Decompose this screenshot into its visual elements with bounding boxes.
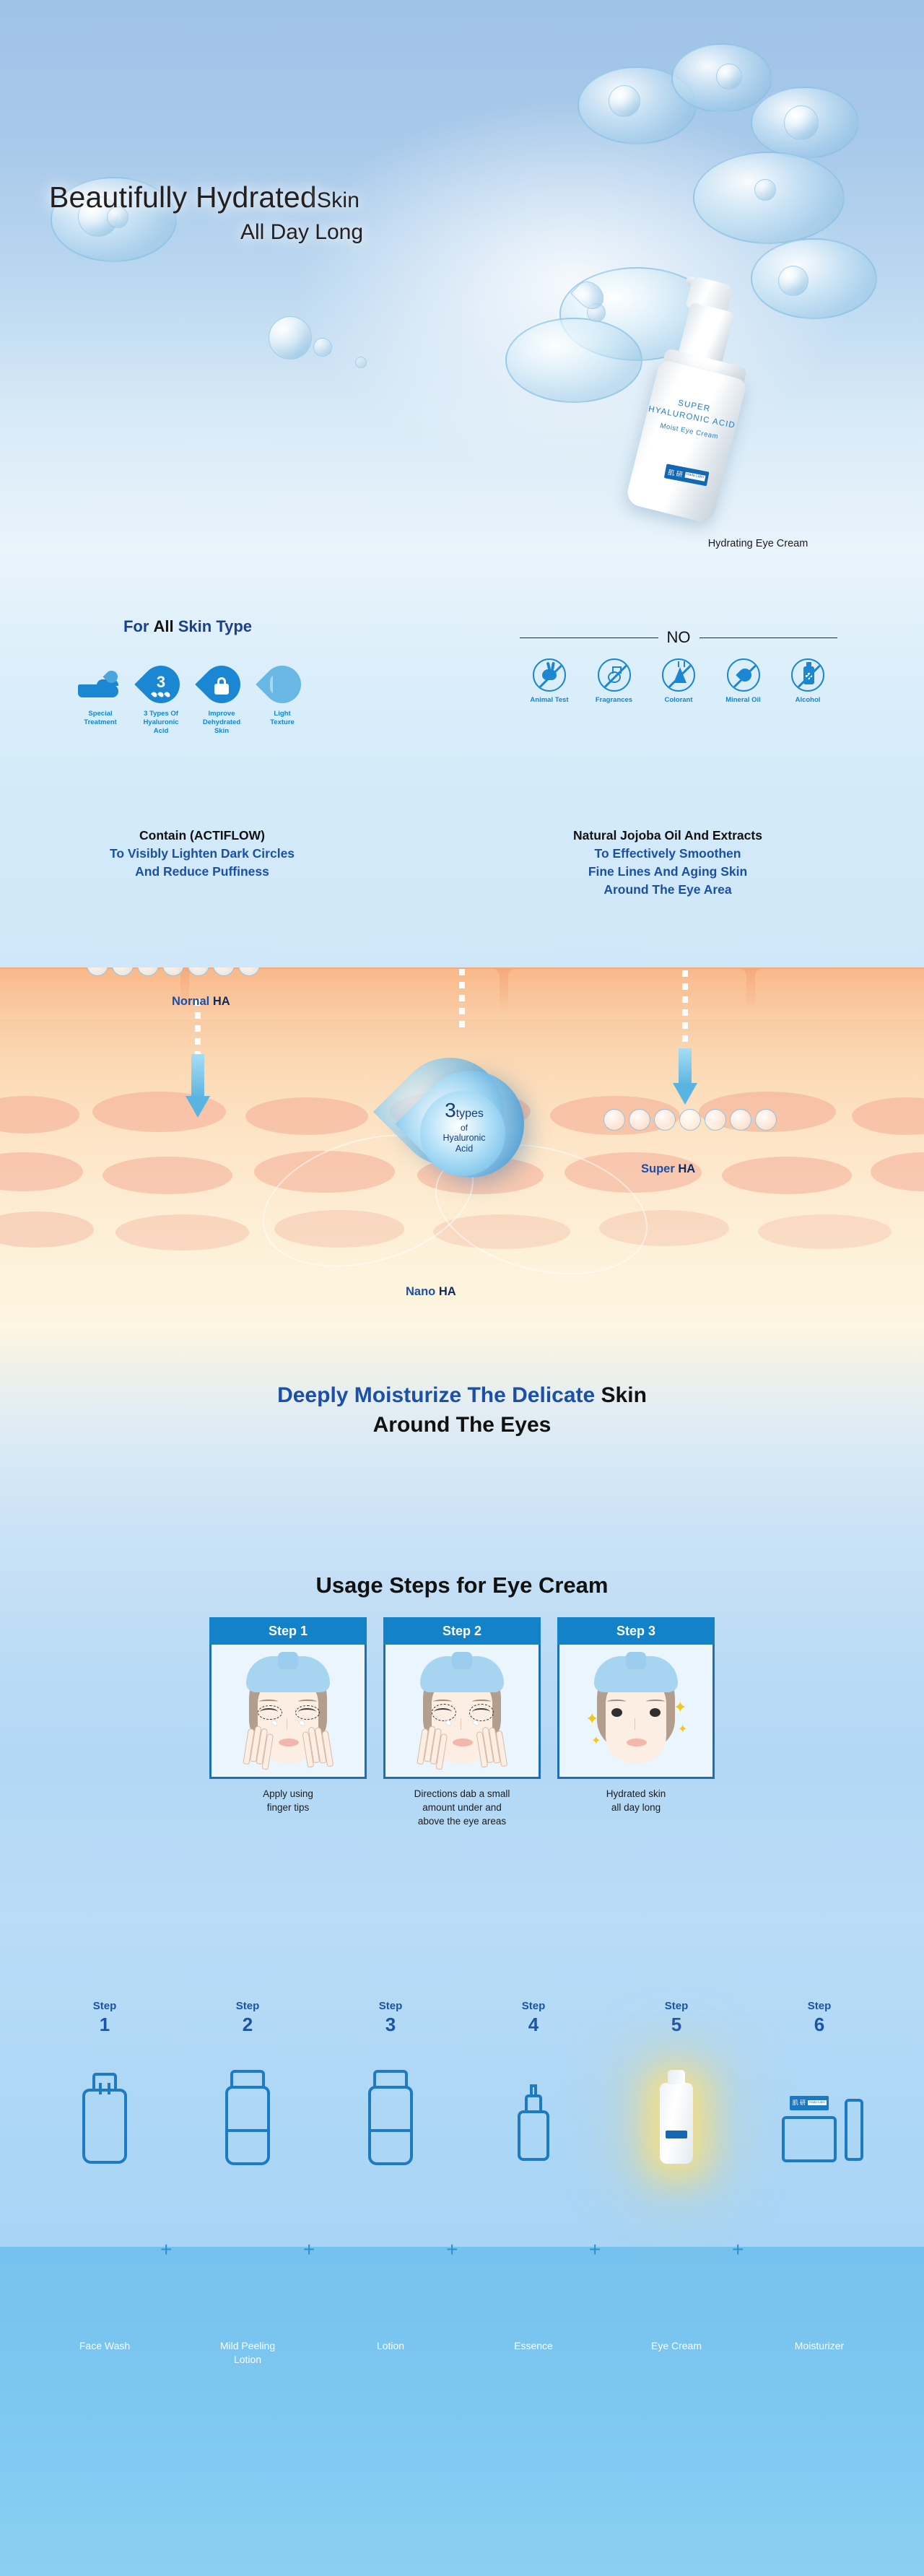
super-ha-label-b: HA bbox=[675, 1162, 695, 1175]
usage-step-card: Step 3 ✦ ✦ ✦ ✦ Hydrated sk bbox=[557, 1617, 715, 1829]
super-ha-arrow-head bbox=[673, 1083, 697, 1105]
claim-right-line3: Around The Eye Area bbox=[498, 881, 837, 899]
free-from-heading-text: NO bbox=[667, 628, 691, 647]
drop-acid-line1: Hyaluronic bbox=[410, 1133, 518, 1144]
routine-item-mild-peeling-lotion: Step 2 Mild PeelingLotion + bbox=[186, 2000, 309, 2170]
feature-item-light-texture: LightTexture bbox=[254, 657, 310, 736]
hero-title-bold: Beautifully Hydrated bbox=[49, 180, 317, 214]
free-from-item-mineral-oil: Mineral Oil bbox=[714, 658, 773, 704]
water-surface bbox=[0, 2247, 924, 2576]
feature-label: 3 Types OfHyaluronicAcid bbox=[133, 710, 189, 736]
routine-step-word: Step bbox=[615, 2000, 738, 2014]
free-from-label: Animal Test bbox=[520, 696, 579, 704]
super-ha-label: Super HA bbox=[641, 1162, 695, 1176]
essence-bottle-icon bbox=[472, 2054, 595, 2170]
feature-label: ImproveDehydratedSkin bbox=[193, 710, 250, 736]
free-from-label: Mineral Oil bbox=[714, 696, 773, 704]
feature-item-three-types: 3 3 Types OfHyaluronicAcid bbox=[133, 657, 189, 736]
epidermis-segment bbox=[189, 969, 500, 1018]
routine-item-face-wash: Step 1 Face Wash + bbox=[43, 2000, 166, 2170]
bubble bbox=[784, 105, 819, 140]
bubble bbox=[355, 357, 367, 368]
brand-logo-cn: 肌 研 bbox=[667, 467, 684, 479]
moisturize-heading-line2: Around The Eyes bbox=[373, 1413, 552, 1437]
usage-step-cards: Step 1 Ap bbox=[209, 1617, 715, 1829]
eye-cream-bottle-icon bbox=[615, 2054, 738, 2170]
epidermis-segment bbox=[0, 969, 180, 1018]
routine-step-word: Step bbox=[186, 2000, 309, 2014]
feature-item-special-treatment: SpecialTreatment bbox=[72, 657, 128, 736]
no-colorant-icon bbox=[662, 658, 695, 692]
usage-step-caption: Directions dab a smallamount under andab… bbox=[383, 1788, 541, 1829]
dermis-cell bbox=[103, 1157, 232, 1194]
free-from-label: Colorant bbox=[649, 696, 708, 704]
plus-separator: + bbox=[732, 2238, 744, 2261]
claim-right: Natural Jojoba Oil And Extracts To Effec… bbox=[498, 827, 837, 898]
drop-acid-line2: Acid bbox=[410, 1144, 518, 1154]
epidermis-segment bbox=[755, 969, 924, 1018]
free-from-label: Fragrances bbox=[585, 696, 644, 704]
routine-section: Step 1 Face Wash + Step 2 Mild Peel bbox=[0, 1920, 924, 2576]
drop-of: of bbox=[410, 1123, 518, 1133]
hand-drop-icon bbox=[78, 657, 123, 705]
lock-drop-icon bbox=[203, 657, 240, 705]
usage-heading: Usage Steps for Eye Cream bbox=[0, 1572, 924, 1598]
routine-product-name: Moisturizer bbox=[758, 2339, 881, 2353]
bubble bbox=[269, 316, 312, 360]
usage-step-illustration: ✦ ✦ ✦ ✦ bbox=[557, 1645, 715, 1779]
nano-ha-dash-line bbox=[459, 967, 465, 1034]
claim-right-line1: To Effectively Smoothen bbox=[498, 845, 837, 863]
divider-line-left bbox=[520, 638, 658, 638]
routine-item-moisturizer: Step 6 肌 研 Hada Labo Moisturizer bbox=[758, 2000, 881, 2170]
plus-separator: + bbox=[160, 2238, 172, 2261]
face-wash-bottle-icon bbox=[43, 2054, 166, 2170]
claim-left: Contain (ACTIFLOW) To Visibly Lighten Da… bbox=[51, 827, 354, 881]
usage-step-card: Step 2 bbox=[383, 1617, 541, 1829]
nano-ha-label: Nano HA bbox=[406, 1285, 456, 1299]
free-from-heading: NO bbox=[520, 628, 837, 647]
normal-ha-arrow-head bbox=[186, 1096, 210, 1118]
plus-separator: + bbox=[589, 2238, 601, 2261]
routine-step-number: 4 bbox=[472, 2015, 595, 2034]
free-from-panel: NO Animal Test Fragrances Colorant bbox=[520, 628, 837, 704]
feature-label: LightTexture bbox=[254, 710, 310, 727]
routine-product-name: Mild PeelingLotion bbox=[186, 2339, 309, 2367]
drop-headline: 3types bbox=[410, 1098, 518, 1123]
feature-icon-row: SpecialTreatment 3 3 Types OfHyaluronicA… bbox=[72, 657, 310, 736]
super-ha-molecule-row bbox=[603, 1109, 777, 1131]
usage-step-title: Step 1 bbox=[209, 1617, 367, 1645]
bubble bbox=[609, 85, 640, 117]
moisturize-section: Deeply Moisturize The Delicate Skin Arou… bbox=[0, 1328, 924, 1516]
sparkle-icon: ✦ bbox=[585, 1711, 598, 1727]
skin-type-heading-post: Skin Type bbox=[174, 617, 252, 635]
no-alcohol-icon bbox=[791, 658, 824, 692]
free-from-label: Alcohol bbox=[778, 696, 837, 704]
routine-product-name: Lotion bbox=[329, 2339, 452, 2353]
free-from-item-colorant: Colorant bbox=[649, 658, 708, 704]
drop-number: 3 bbox=[445, 1099, 456, 1121]
normal-ha-label: Nornal HA bbox=[172, 995, 230, 1009]
dermis-cell bbox=[722, 1157, 852, 1194]
usage-step-title: Step 2 bbox=[383, 1617, 541, 1645]
features-section: For All Skin Type SpecialTreatment 3 3 T… bbox=[0, 549, 924, 967]
bubble bbox=[754, 179, 776, 201]
normal-ha-arrow-shaft bbox=[191, 1054, 204, 1099]
product-caption: Hydrating Eye Cream bbox=[671, 538, 845, 549]
free-from-item-fragrances: Fragrances bbox=[585, 658, 644, 704]
moisturize-heading: Deeply Moisturize The Delicate Skin Arou… bbox=[0, 1380, 924, 1440]
claim-left-line1: To Visibly Lighten Dark Circles bbox=[51, 845, 354, 863]
usage-steps-section: Usage Steps for Eye Cream Step 1 bbox=[0, 1516, 924, 1920]
face-illustration bbox=[240, 1655, 336, 1779]
drop-text: 3types of Hyaluronic Acid bbox=[410, 1098, 518, 1154]
face-illustration: ✦ ✦ ✦ ✦ bbox=[588, 1655, 684, 1779]
light-drop-icon bbox=[263, 657, 301, 705]
routine-step-number: 3 bbox=[329, 2015, 452, 2034]
skin-type-heading-pre: For bbox=[123, 617, 154, 635]
divider-line-right bbox=[699, 638, 838, 638]
nano-ha-label-a: Nano bbox=[406, 1285, 435, 1298]
super-ha-arrow-shaft bbox=[679, 1048, 692, 1086]
feature-label: SpecialTreatment bbox=[72, 710, 128, 727]
bubble bbox=[716, 64, 742, 90]
normal-ha-label-b: HA bbox=[209, 995, 230, 1008]
dermis-cell bbox=[0, 1152, 83, 1191]
usage-step-illustration bbox=[383, 1645, 541, 1779]
routine-product-name: Eye Cream bbox=[615, 2339, 738, 2353]
claim-right-line2: Fine Lines And Aging Skin bbox=[498, 863, 837, 881]
drop-types: types bbox=[456, 1108, 484, 1120]
routine-row: Step 1 Face Wash + Step 2 Mild Peel bbox=[43, 2000, 881, 2170]
dermis-cell bbox=[245, 1097, 368, 1135]
mild-peeling-lotion-bottle-icon bbox=[186, 2054, 309, 2170]
nano-ha-label-b: HA bbox=[435, 1285, 456, 1298]
usage-step-caption: Apply usingfinger tips bbox=[209, 1788, 367, 1815]
feature-item-improve-dehydrated: ImproveDehydratedSkin bbox=[193, 657, 250, 736]
routine-product-name: Essence bbox=[472, 2339, 595, 2353]
three-types-hyaluronic-drop: 3types of Hyaluronic Acid bbox=[383, 1029, 541, 1224]
routine-brand-cn: 肌 研 bbox=[793, 2099, 806, 2107]
usage-step-card: Step 1 Ap bbox=[209, 1617, 367, 1829]
claim-right-highlight: Natural Jojoba Oil And Extracts bbox=[498, 827, 837, 845]
dermis-cell bbox=[0, 1096, 79, 1133]
skin-type-heading-bold: All bbox=[154, 617, 174, 635]
no-animal-test-icon bbox=[533, 658, 566, 692]
plus-separator: + bbox=[446, 2238, 458, 2261]
three-types-drop-icon: 3 bbox=[142, 657, 180, 705]
hero-title-light: Skin bbox=[317, 188, 359, 212]
bubble bbox=[313, 338, 332, 357]
super-ha-label-a: Super bbox=[641, 1162, 675, 1175]
usage-step-title: Step 3 bbox=[557, 1617, 715, 1645]
routine-step-number: 2 bbox=[186, 2015, 309, 2034]
dermis-cell bbox=[115, 1214, 249, 1250]
routine-brand-en: Hada Labo bbox=[808, 2100, 827, 2105]
epidermis-segment bbox=[508, 969, 746, 1018]
brand-logo-en: Hada Labo bbox=[684, 472, 705, 482]
lotion-bottle-icon bbox=[329, 2054, 452, 2170]
dermis-cell bbox=[758, 1214, 892, 1249]
no-fragrances-icon bbox=[598, 658, 631, 692]
sparkle-icon: ✦ bbox=[678, 1724, 687, 1736]
sparkle-icon: ✦ bbox=[591, 1736, 601, 1747]
routine-item-eye-cream: Step 5 Eye Cream + bbox=[615, 2000, 738, 2170]
hero-subtitle: All Day Long bbox=[49, 220, 554, 245]
usage-step-caption: Hydrated skinall day long bbox=[557, 1788, 715, 1815]
routine-item-essence: Step 4 Essence + bbox=[472, 2000, 595, 2170]
routine-step-word: Step bbox=[43, 2000, 166, 2014]
routine-step-word: Step bbox=[758, 2000, 881, 2014]
normal-ha-label-a: Nornal bbox=[172, 995, 209, 1008]
moisturize-heading-black: Skin bbox=[601, 1383, 647, 1407]
dermis-cell bbox=[0, 1211, 94, 1248]
dermis-cell bbox=[871, 1152, 924, 1191]
usage-step-illustration bbox=[209, 1645, 367, 1779]
normal-ha-molecule-row bbox=[87, 967, 260, 976]
claim-left-line2: And Reduce Puffiness bbox=[51, 863, 354, 881]
plus-separator: + bbox=[303, 2238, 315, 2261]
moisturize-heading-blue: Deeply Moisturize The Delicate bbox=[277, 1383, 601, 1407]
routine-step-word: Step bbox=[472, 2000, 595, 2014]
free-from-icon-row: Animal Test Fragrances Colorant Mineral … bbox=[520, 658, 837, 704]
skin-type-heading: For All Skin Type bbox=[79, 617, 296, 636]
routine-product-name: Face Wash bbox=[43, 2339, 166, 2353]
moisturizer-jar-icon: 肌 研 Hada Labo bbox=[758, 2054, 881, 2170]
free-from-item-alcohol: Alcohol bbox=[778, 658, 837, 704]
routine-step-number: 5 bbox=[615, 2015, 738, 2034]
no-mineral-oil-icon bbox=[727, 658, 760, 692]
claim-left-highlight: Contain (ACTIFLOW) bbox=[51, 827, 354, 845]
routine-item-lotion: Step 3 Lotion + bbox=[329, 2000, 452, 2170]
routine-step-number: 6 bbox=[758, 2015, 881, 2034]
hero-title: Beautifully HydratedSkin bbox=[49, 180, 598, 214]
dermis-cell bbox=[852, 1097, 924, 1135]
sparkle-icon: ✦ bbox=[674, 1700, 687, 1715]
routine-step-number: 1 bbox=[43, 2015, 166, 2034]
infographic-page: Beautifully HydratedSkin All Day Long SU… bbox=[0, 0, 924, 2576]
face-illustration bbox=[414, 1655, 510, 1779]
hero-section: Beautifully HydratedSkin All Day Long SU… bbox=[0, 0, 924, 549]
routine-step-word: Step bbox=[329, 2000, 452, 2014]
free-from-item-animal-test: Animal Test bbox=[520, 658, 579, 704]
